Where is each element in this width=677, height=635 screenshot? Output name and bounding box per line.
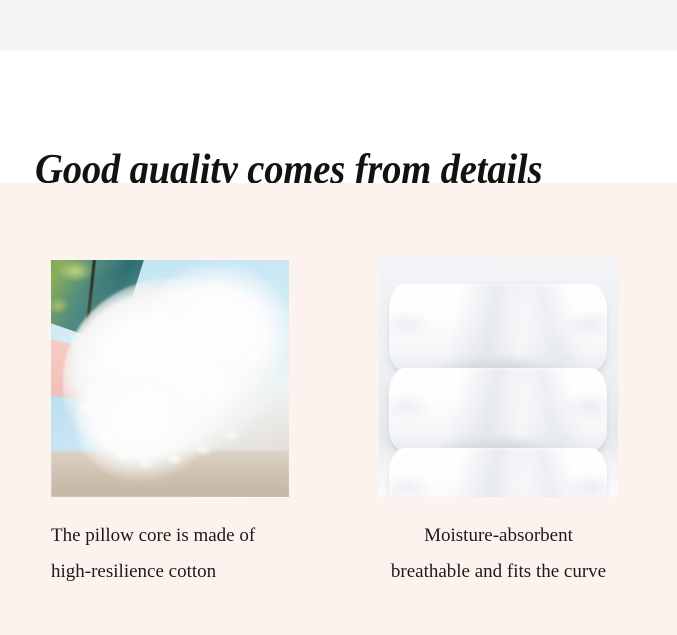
caption-line: The pillow core is made of: [51, 518, 289, 554]
top-chrome-left-segment: [0, 0, 125, 52]
feature-card-fiber-fill: The pillow core is made of high-resilien…: [51, 260, 289, 590]
feature-caption-left: The pillow core is made of high-resilien…: [51, 497, 289, 590]
polyester-fiber-fill-photo: [51, 260, 289, 497]
caption-line: high-resilience cotton: [51, 554, 289, 590]
pillow-insert-top: [389, 284, 607, 372]
caption-line: breathable and fits the curve: [379, 554, 618, 590]
pillow-insert-middle: [389, 368, 607, 452]
caption-line: Moisture-absorbent: [379, 518, 618, 554]
pillow-insert-bottom: [389, 448, 607, 497]
heading-band: Good quality comes from details: [0, 52, 677, 183]
feature-card-pillow-stack: Moisture-absorbent breathable and fits t…: [379, 258, 618, 590]
feature-section: The pillow core is made of high-resilien…: [0, 183, 677, 635]
stacked-pillow-inserts-photo: [379, 258, 618, 497]
feature-caption-right: Moisture-absorbent breathable and fits t…: [379, 497, 618, 590]
top-chrome-band: [0, 0, 677, 52]
photo-soft-light: [51, 260, 289, 497]
